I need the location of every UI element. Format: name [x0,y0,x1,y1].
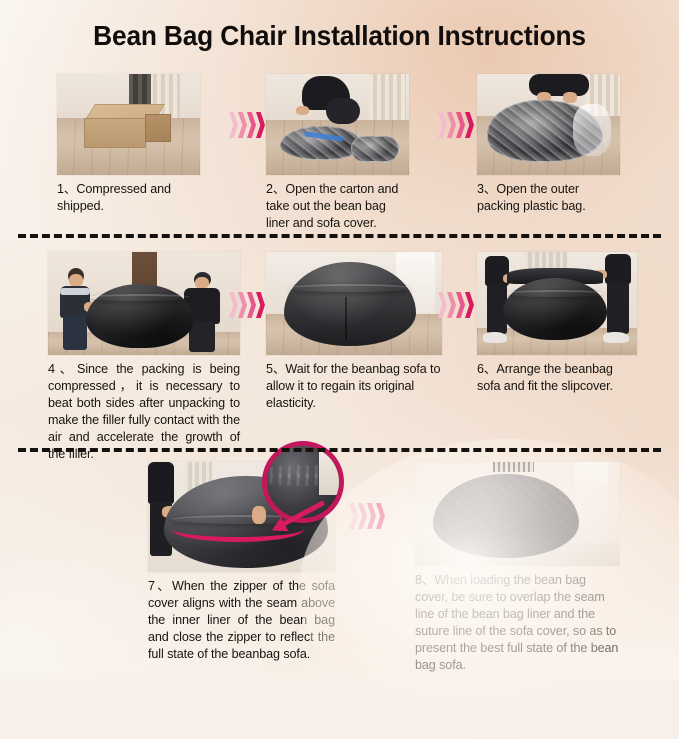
step-5-panel: 5、Wait for the beanbag sofa to allow it … [266,252,442,412]
step-3-caption: 3、Open the outer packing plastic bag. [477,181,620,215]
step-2-photo [266,74,409,175]
row-divider-1 [18,234,661,238]
step-5-caption: 5、Wait for the beanbag sofa to allow it … [266,361,442,412]
arrow-step-1-to-2 [229,112,265,138]
row-divider-2 [18,448,661,452]
step-6-panel: 6、Arrange the beanbag sofa and fit the s… [477,252,637,395]
step-4-photo [48,252,240,355]
step-3-panel: 3、Open the outer packing plastic bag. [477,74,620,215]
step-8-caption: 8、When loading the bean bag cover, be su… [415,572,620,674]
step-8-photo [415,462,620,566]
step-1-caption: 1、Compressed and shipped. [57,181,200,215]
step-6-photo [477,252,637,355]
step-1-panel: 1、Compressed and shipped. [57,74,200,215]
page-title: Bean Bag Chair Installation Instructions [20,20,658,52]
step-5-photo [266,252,442,355]
step-2-caption: 2、Open the carton and take out the bean … [266,181,409,232]
infographic-page: Bean Bag Chair Installation Instructions… [0,0,679,679]
arrow-step-2-to-3 [438,112,474,138]
step-4-panel: 4、Since the packing is being compressed，… [48,252,240,463]
arrow-step-5-to-6 [438,292,474,318]
step-7-caption: 7、When the zipper of the sofa cover alig… [148,578,335,663]
arrow-step-7-to-8 [349,503,385,529]
step-6-caption: 6、Arrange the beanbag sofa and fit the s… [477,361,637,395]
arrow-step-4-to-5 [229,292,265,318]
step-2-panel: 2、Open the carton and take out the bean … [266,74,409,232]
step-8-panel: 8、When loading the bean bag cover, be su… [415,462,620,674]
step-1-photo [57,74,200,175]
step-3-photo [477,74,620,175]
